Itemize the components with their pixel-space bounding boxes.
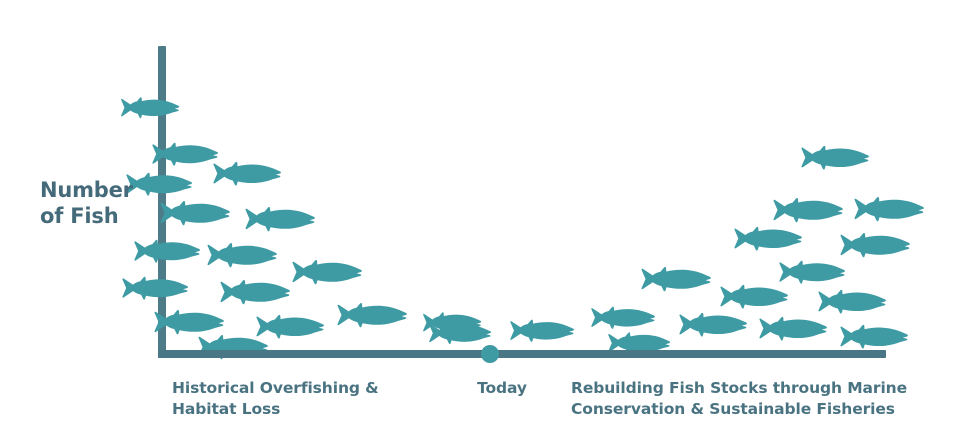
fish-icon bbox=[119, 93, 181, 124]
y-axis-label: Number of Fish bbox=[40, 177, 158, 229]
fish-icon bbox=[158, 196, 232, 232]
fish-icon bbox=[120, 272, 190, 306]
y-axis-label-line2: of Fish bbox=[40, 203, 158, 229]
fish-icon bbox=[639, 262, 713, 298]
fish-icon bbox=[196, 330, 270, 366]
x-axis-line bbox=[158, 350, 886, 358]
today-marker-dot bbox=[481, 345, 499, 363]
x-label-historical-line1: Historical Overfishing & bbox=[172, 378, 452, 399]
fish-icon bbox=[732, 222, 804, 257]
fish-stocks-infographic: Number of Fish Historical Overfishing & … bbox=[0, 0, 975, 443]
x-label-today: Today bbox=[452, 378, 552, 399]
x-label-rebuilding-line2: Conservation & Sustainable Fisheries bbox=[571, 399, 961, 420]
fish-icon bbox=[243, 202, 317, 238]
x-label-rebuilding-line1: Rebuilding Fish Stocks through Marine bbox=[571, 378, 961, 399]
fish-icon bbox=[427, 318, 493, 350]
fish-icon bbox=[757, 312, 829, 347]
x-label-historical-line2: Habitat Loss bbox=[172, 399, 452, 420]
fish-icon bbox=[838, 228, 912, 264]
fish-icon bbox=[508, 315, 576, 348]
x-label-historical: Historical Overfishing & Habitat Loss bbox=[172, 378, 452, 420]
fish-icon bbox=[218, 275, 292, 311]
x-label-today-line1: Today bbox=[452, 378, 552, 399]
fish-icon bbox=[211, 157, 283, 192]
fish-icon bbox=[799, 141, 871, 176]
fish-icon bbox=[335, 298, 409, 334]
fish-icon bbox=[290, 255, 364, 291]
fish-icon bbox=[150, 138, 220, 172]
y-axis-label-line1: Number bbox=[40, 177, 158, 203]
fish-icon bbox=[677, 308, 749, 343]
x-label-rebuilding: Rebuilding Fish Stocks through Marine Co… bbox=[571, 378, 961, 420]
fish-icon bbox=[132, 235, 202, 269]
fish-icon bbox=[205, 238, 279, 274]
fish-icon bbox=[852, 192, 926, 228]
